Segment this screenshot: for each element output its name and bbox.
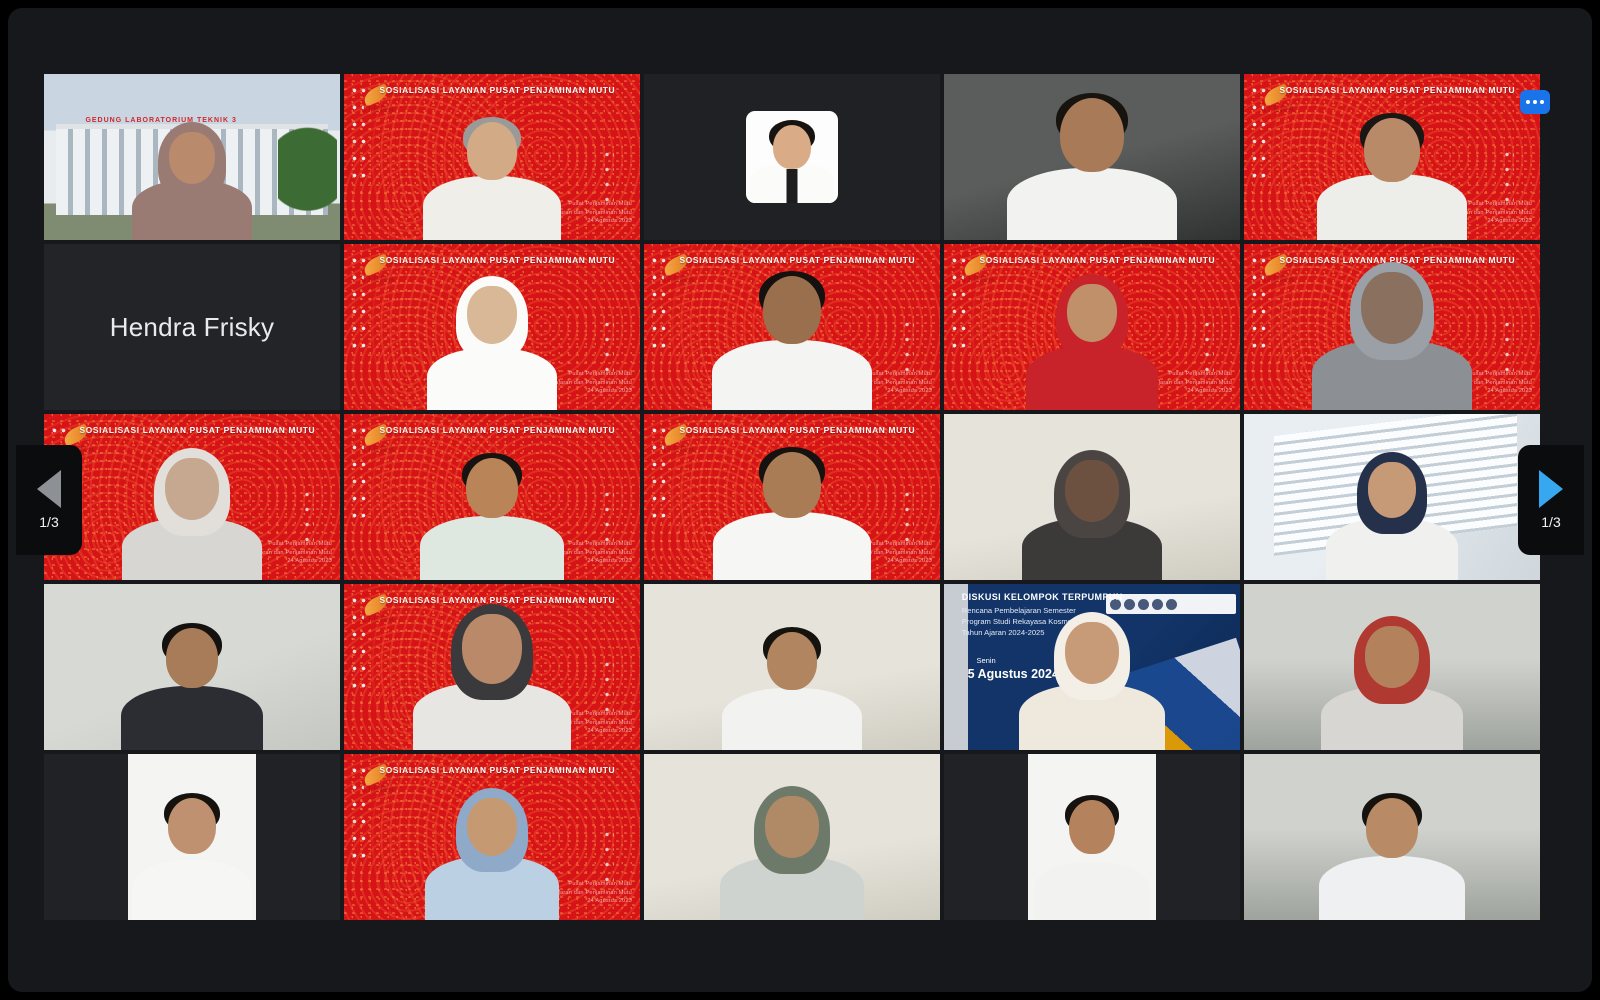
participant-grid: GEDUNG LABORATORIUM TEKNIK 3ITERASOSIALI…	[44, 74, 1540, 992]
participant-tile[interactable]: ITERASOSIALISASI LAYANAN PUSAT PENJAMINA…	[644, 414, 940, 580]
participant-tile-camera-off[interactable]: Hendra Frisky	[44, 244, 340, 410]
participant-tile[interactable]	[944, 414, 1240, 580]
previous-page-button[interactable]: 1/3	[16, 445, 82, 555]
previous-page-label: 1/3	[39, 514, 58, 530]
participant-video-silhouette	[1028, 754, 1156, 920]
webcam-frame	[128, 754, 256, 920]
participant-video-silhouette	[1244, 414, 1540, 580]
participant-video-silhouette	[344, 244, 640, 410]
participant-tile[interactable]: ITERASOSIALISASI LAYANAN PUSAT PENJAMINA…	[344, 754, 640, 920]
participant-tile[interactable]: ITERASOSIALISASI LAYANAN PUSAT PENJAMINA…	[644, 244, 940, 410]
participant-video-silhouette	[644, 754, 940, 920]
webcam-frame	[1028, 754, 1156, 920]
participant-tile[interactable]: ITERASOSIALISASI LAYANAN PUSAT PENJAMINA…	[44, 414, 340, 580]
triangle-left-icon	[37, 470, 61, 508]
participant-video-silhouette	[344, 414, 640, 580]
triangle-right-icon	[1539, 470, 1563, 508]
participant-tile[interactable]: ITERASOSIALISASI LAYANAN PUSAT PENJAMINA…	[1244, 244, 1540, 410]
participant-video-silhouette	[344, 754, 640, 920]
more-options-button[interactable]	[1520, 90, 1550, 114]
participant-video-silhouette	[344, 584, 640, 750]
participant-video-silhouette	[944, 244, 1240, 410]
participant-name: Hendra Frisky	[110, 312, 274, 343]
participant-video-silhouette	[644, 244, 940, 410]
participant-tile[interactable]	[1244, 584, 1540, 750]
participant-video-silhouette	[1244, 754, 1540, 920]
participant-tile[interactable]: GEDUNG LABORATORIUM TEKNIK 3	[44, 74, 340, 240]
participant-tile[interactable]	[1244, 414, 1540, 580]
participant-video-silhouette	[944, 584, 1240, 750]
participant-video-silhouette	[44, 74, 340, 240]
participant-video-silhouette	[44, 414, 340, 580]
necktie	[787, 169, 798, 203]
participant-video-silhouette	[1244, 74, 1540, 240]
video-conference-window: GEDUNG LABORATORIUM TEKNIK 3ITERASOSIALI…	[8, 8, 1592, 992]
participant-video-silhouette	[1244, 244, 1540, 410]
participant-avatar-photo	[746, 111, 838, 203]
participant-video-silhouette	[944, 74, 1240, 240]
participant-video-silhouette	[344, 74, 640, 240]
participant-tile[interactable]: ITERASOSIALISASI LAYANAN PUSAT PENJAMINA…	[344, 414, 640, 580]
participant-tile[interactable]: ITERASOSIALISASI LAYANAN PUSAT PENJAMINA…	[344, 244, 640, 410]
participant-tile[interactable]: DISKUSI KELOMPOK TERPUMPUNRencana Pembel…	[944, 584, 1240, 750]
participant-video-silhouette	[644, 414, 940, 580]
participant-tile[interactable]	[44, 754, 340, 920]
participant-tile[interactable]	[644, 74, 940, 240]
participant-video-silhouette	[1244, 584, 1540, 750]
three-dots-icon	[1533, 100, 1537, 104]
participant-tile[interactable]	[44, 584, 340, 750]
next-page-button[interactable]: 1/3	[1518, 445, 1584, 555]
next-page-label: 1/3	[1541, 514, 1560, 530]
participant-video-silhouette	[44, 584, 340, 750]
participant-tile[interactable]: ITERASOSIALISASI LAYANAN PUSAT PENJAMINA…	[944, 244, 1240, 410]
participant-tile[interactable]	[644, 584, 940, 750]
participant-tile[interactable]	[644, 754, 940, 920]
participant-tile[interactable]	[944, 754, 1240, 920]
participant-tile[interactable]	[944, 74, 1240, 240]
three-dots-icon	[1526, 100, 1530, 104]
three-dots-icon	[1540, 100, 1544, 104]
participant-tile[interactable]: ITERASOSIALISASI LAYANAN PUSAT PENJAMINA…	[344, 584, 640, 750]
participant-tile[interactable]: ITERASOSIALISASI LAYANAN PUSAT PENJAMINA…	[344, 74, 640, 240]
participant-tile[interactable]: ITERASOSIALISASI LAYANAN PUSAT PENJAMINA…	[1244, 74, 1540, 240]
participant-video-silhouette	[128, 754, 256, 920]
participant-video-silhouette	[944, 414, 1240, 580]
participant-tile[interactable]	[1244, 754, 1540, 920]
participant-video-silhouette	[644, 584, 940, 750]
